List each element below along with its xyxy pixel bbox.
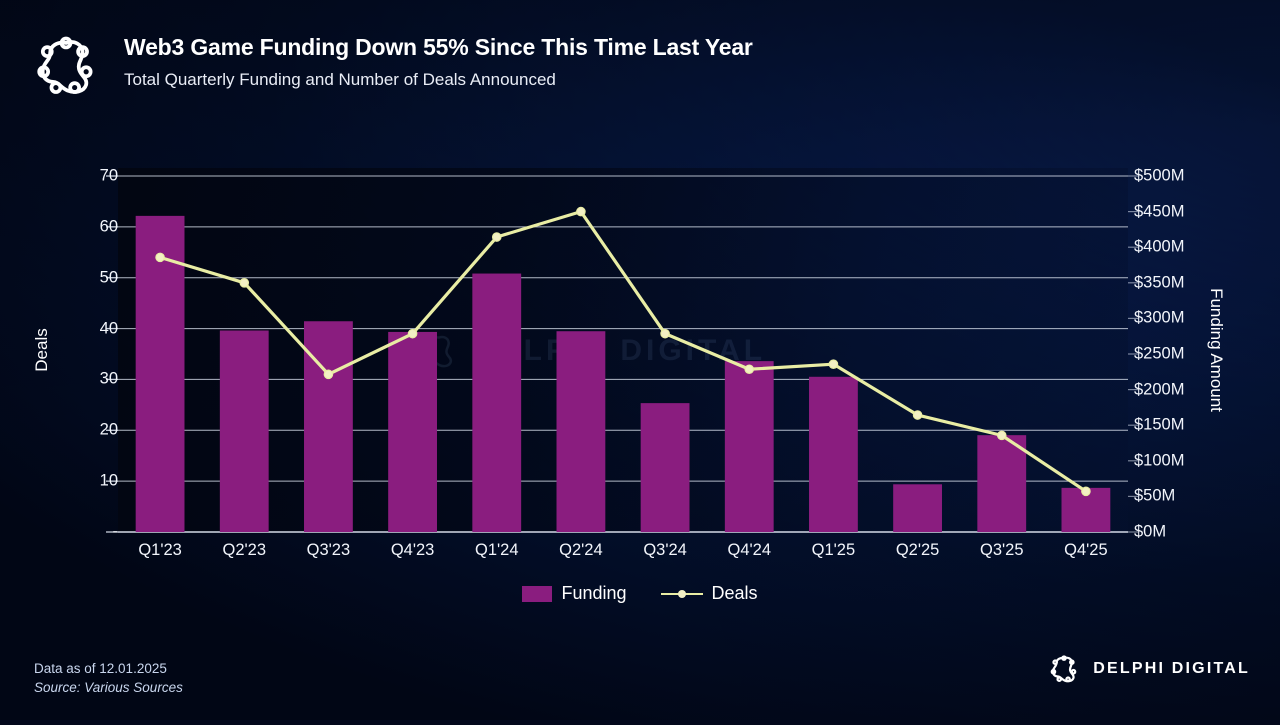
y-axis-right-label: $450M	[1134, 202, 1184, 221]
legend-label-deals: Deals	[712, 583, 758, 604]
deals-marker-Q323	[324, 370, 332, 378]
y-axis-left-label: 50	[58, 268, 118, 287]
bar-Q323	[304, 321, 353, 532]
bar-Q424	[725, 361, 774, 532]
y-axis-left-label: 70	[58, 167, 118, 186]
deals-marker-Q224	[577, 207, 585, 215]
footer-notes: Data as of 12.01.2025 Source: Various So…	[34, 659, 183, 697]
deals-marker-Q424	[745, 365, 753, 373]
x-axis-label: Q3'23	[307, 541, 351, 560]
chart: -10203040506070 $0M$50M$100M$150M$200M$2…	[0, 0, 1280, 720]
data-as-of-note: Data as of 12.01.2025	[34, 659, 183, 678]
deals-marker-Q225	[913, 411, 921, 419]
bar-Q125	[809, 377, 858, 532]
y-axis-right-label: $300M	[1134, 309, 1184, 328]
bar-Q223	[220, 331, 269, 532]
x-axis-label: Q2'25	[896, 541, 940, 560]
legend-item-deals[interactable]: Deals	[661, 583, 758, 604]
y-axis-right-label: $400M	[1134, 238, 1184, 257]
y-axis-left-title: Deals	[32, 328, 52, 371]
legend-item-funding[interactable]: Funding	[522, 583, 626, 604]
deals-marker-Q223	[240, 279, 248, 287]
deals-line	[160, 212, 1086, 492]
x-axis-label: Q4'25	[1064, 541, 1108, 560]
legend-label-funding: Funding	[561, 583, 626, 604]
deals-swatch-icon	[661, 588, 703, 600]
x-axis-label: Q3'25	[980, 541, 1024, 560]
y-axis-left-label: 10	[58, 472, 118, 491]
y-axis-left-ticks: -10203040506070	[58, 0, 118, 720]
y-axis-right-ticks: $0M$50M$100M$150M$200M$250M$300M$350M$40…	[1134, 0, 1244, 720]
y-axis-left-label: 30	[58, 370, 118, 389]
bar-Q124	[472, 274, 521, 532]
y-axis-left-label: -	[58, 523, 118, 542]
bar-Q224	[557, 331, 606, 532]
y-axis-right-label: $200M	[1134, 380, 1184, 399]
footer-logo-text: DELPHI DIGITAL	[1093, 660, 1250, 678]
deals-marker-Q124	[493, 233, 501, 241]
deals-marker-Q425	[1082, 487, 1090, 495]
x-axis-label: Q2'23	[222, 541, 266, 560]
y-axis-right-title: Funding Amount	[1206, 288, 1226, 412]
x-axis-label: Q4'23	[391, 541, 435, 560]
deals-marker-Q123	[156, 253, 164, 261]
x-axis-label: Q4'24	[727, 541, 771, 560]
funding-swatch-icon	[522, 586, 552, 602]
deals-marker-Q324	[661, 329, 669, 337]
y-axis-left-label: 60	[58, 217, 118, 236]
deals-marker-Q423	[408, 329, 416, 337]
y-axis-left-label: 20	[58, 421, 118, 440]
chart-canvas	[0, 0, 1280, 720]
x-axis-label: Q1'23	[138, 541, 182, 560]
y-axis-right-label: $250M	[1134, 345, 1184, 364]
x-axis-label: Q2'24	[559, 541, 603, 560]
delphi-ring-icon	[1047, 652, 1081, 686]
y-axis-right-label: $0M	[1134, 523, 1166, 542]
source-note: Source: Various Sources	[34, 678, 183, 697]
bar-Q324	[641, 403, 690, 532]
x-axis-label: Q3'24	[643, 541, 687, 560]
y-axis-right-label: $50M	[1134, 487, 1175, 506]
deals-marker-Q325	[998, 431, 1006, 439]
y-axis-left-label: 40	[58, 319, 118, 338]
bar-Q225	[893, 484, 942, 532]
bar-Q325	[977, 435, 1026, 532]
x-axis-label: Q1'24	[475, 541, 519, 560]
footer-logo: DELPHI DIGITAL	[1047, 652, 1250, 686]
y-axis-right-label: $150M	[1134, 416, 1184, 435]
y-axis-right-label: $100M	[1134, 451, 1184, 470]
deals-marker-Q125	[829, 360, 837, 368]
legend: Funding Deals	[0, 583, 1280, 604]
x-axis-label: Q1'25	[812, 541, 856, 560]
y-axis-right-label: $500M	[1134, 167, 1184, 186]
y-axis-right-label: $350M	[1134, 273, 1184, 292]
bar-Q423	[388, 332, 437, 532]
